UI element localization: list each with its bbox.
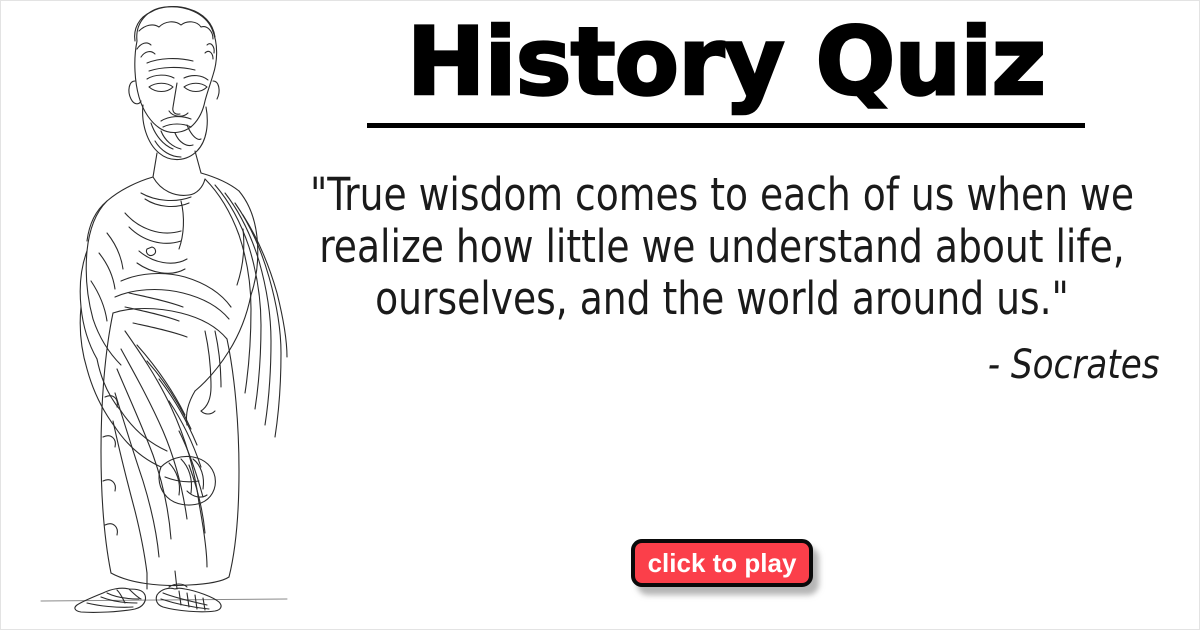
- socrates-statue-illustration: [29, 1, 299, 629]
- quote-attribution: - Socrates: [318, 325, 1171, 389]
- click-to-play-button[interactable]: click to play: [631, 539, 813, 587]
- quote-block: "True wisdom comes to each of us when we…: [273, 169, 1171, 389]
- quote-line-3: ourselves, and the world around us.": [304, 273, 1139, 325]
- header: History Quiz: [361, 9, 1091, 128]
- quote-line-1: "True wisdom comes to each of us when we: [304, 169, 1139, 221]
- history-quiz-card: History Quiz "True wisdom comes to each …: [0, 0, 1200, 630]
- title-underline-rule: [367, 123, 1085, 128]
- quote-line-2: realize how little we understand about l…: [304, 221, 1139, 273]
- page-title: History Quiz: [361, 9, 1091, 117]
- play-button-wrapper: click to play: [631, 539, 813, 587]
